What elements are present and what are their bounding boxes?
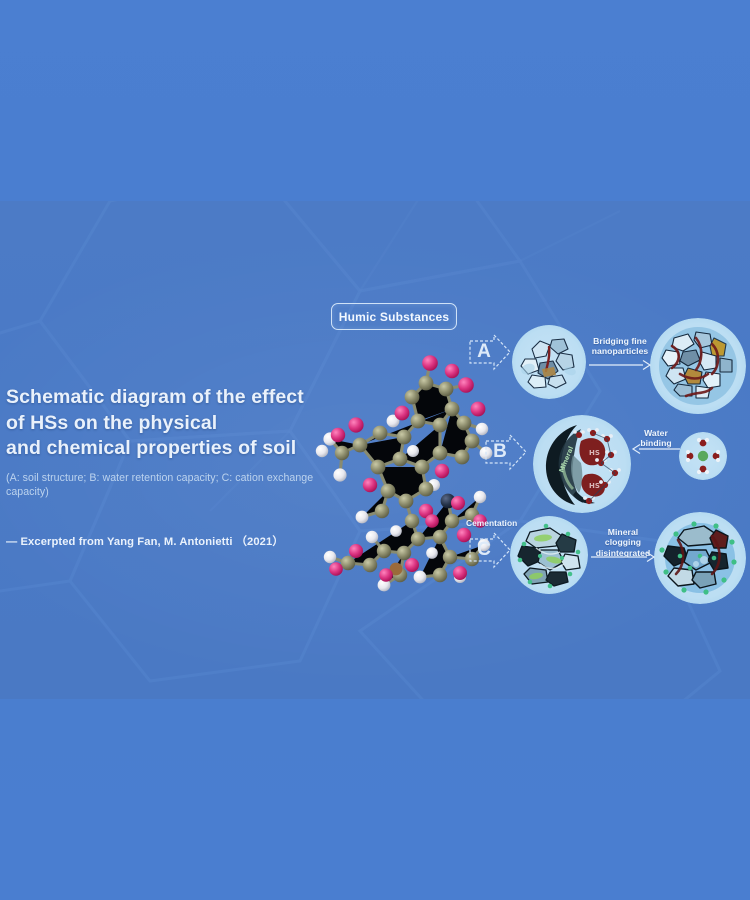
text-block: Schematic diagram of the effect of HSs o… — [6, 385, 346, 549]
page-subtitle: (A: soil structure; B: water retention c… — [6, 471, 346, 499]
circle-clay-with-humic-substances: HS HS Mineral — [533, 415, 631, 513]
flow-arrow-b: Water binding — [631, 428, 681, 458]
background-band-bottom — [0, 699, 750, 900]
svg-text:HS: HS — [589, 449, 600, 457]
cementation-label: Cementation — [466, 518, 528, 528]
flow-arrow-a: Bridging fine nanoparticles — [588, 336, 652, 370]
circle-bridged-soil-aggregate — [650, 318, 746, 414]
attribution-line: — Excerpted from Yang Fan, M. Antonietti… — [6, 533, 346, 549]
circle-disintegrated-aggregate — [654, 512, 746, 604]
page-title: Schematic diagram of the effect of HSs o… — [6, 385, 346, 462]
marker-a-letter: A — [471, 332, 497, 372]
flow-arrow-c: Mineral clogging disintegrated — [590, 527, 656, 563]
circle-loose-mineral-particles — [512, 325, 586, 399]
slide-canvas: Schematic diagram of the effect of HSs o… — [0, 0, 750, 900]
marker-a: A — [468, 332, 512, 372]
marker-c-letter: C — [471, 530, 497, 570]
humic-substances-label-text: Humic Substances — [339, 310, 450, 324]
flow-a-caption-line-1: Bridging fine — [588, 336, 652, 346]
flow-a-caption-line-2: nanoparticles — [588, 346, 652, 356]
svg-text:HS: HS — [589, 482, 600, 490]
marker-b: B — [484, 432, 528, 472]
circle-hydrated-cation — [679, 432, 727, 480]
title-line-3: and chemical properties of soil — [6, 436, 346, 462]
title-line-1: Schematic diagram of the effect — [6, 385, 346, 411]
flow-c-caption-line-1: Mineral clogging — [590, 527, 656, 548]
background-band-top — [0, 0, 750, 201]
marker-c: C — [468, 530, 512, 570]
marker-b-letter: B — [487, 432, 513, 472]
title-line-2: of HSs on the physical — [6, 411, 346, 437]
flow-a-caption: Bridging fine nanoparticles — [588, 336, 652, 357]
